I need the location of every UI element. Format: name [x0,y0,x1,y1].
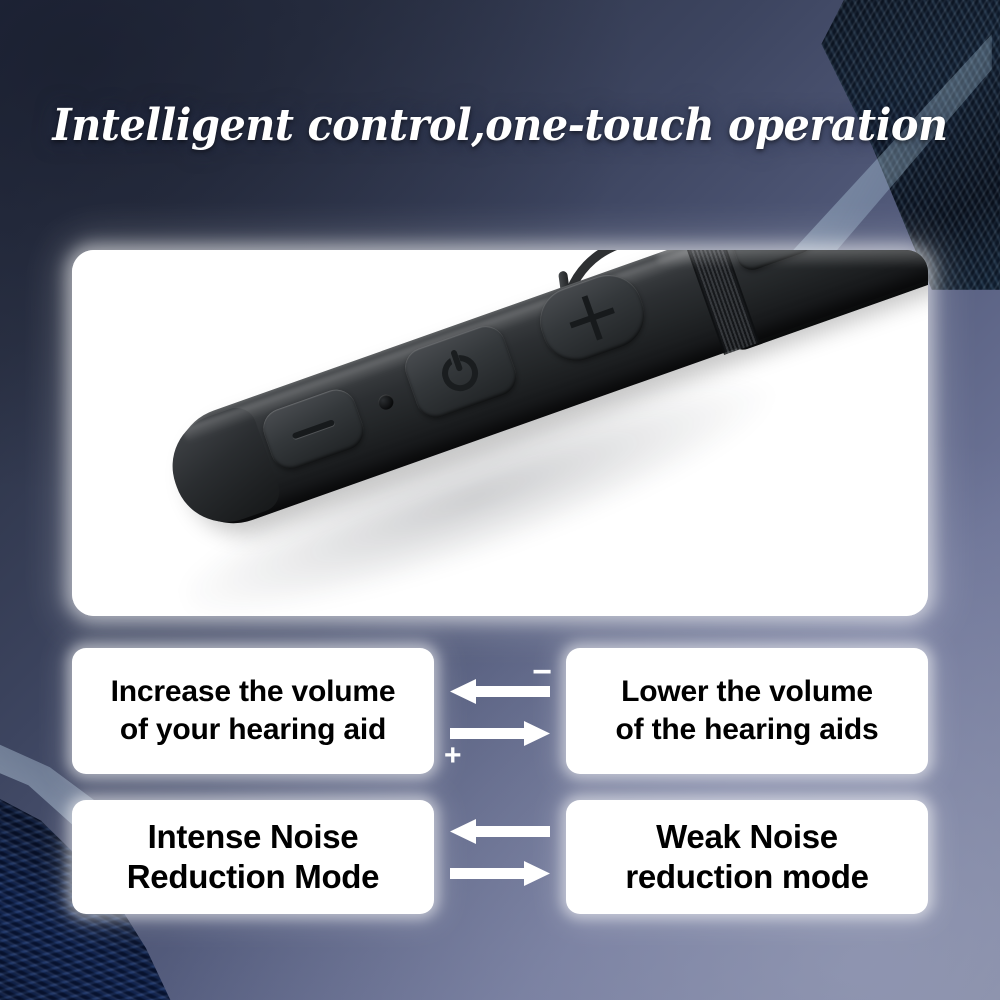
water-highlight-top-right [762,34,992,284]
minus-sign-label: − [532,655,552,689]
feature-row-volume: Increase the volume of your hearing aid … [72,648,928,774]
arrow-pair-noise [442,805,558,909]
power-icon [431,343,490,402]
feature-text-line2: Reduction Mode [127,857,379,897]
arrow-right-icon [450,861,550,886]
feature-card-weak-noise-reduction: Weak Noise reduction mode [566,800,928,914]
feature-text-line2: of the hearing aids [616,711,879,749]
plus-sign-label: + [444,741,462,771]
arrow-pair-volume: − + [442,659,558,763]
feature-card-intense-noise-reduction: Intense Noise Reduction Mode [72,800,434,914]
device-barrel-highlight [657,250,928,268]
product-photo-panel [72,250,928,616]
feature-text-line1: Intense Noise [148,817,359,857]
arrow-right-icon [450,721,550,746]
feature-card-lower-volume: Lower the volume of the hearing aids [566,648,928,774]
arrow-left-icon [450,819,550,844]
feature-text-line1: Lower the volume [621,673,873,711]
product-photo [72,250,928,616]
feature-card-increase-volume: Increase the volume of your hearing aid [72,648,434,774]
feature-text-line2: reduction mode [625,857,868,897]
feature-row-noise: Intense Noise Reduction Mode Weak Noise … [72,800,928,914]
feature-text-line1: Increase the volume [111,673,396,711]
infographic-canvas: Intelligent control,one-touch operation [0,0,1000,1000]
feature-text-line1: Weak Noise [656,817,838,857]
page-title: Intelligent control,one-touch operation [30,100,970,151]
feature-text-line2: of your hearing aid [120,711,386,749]
